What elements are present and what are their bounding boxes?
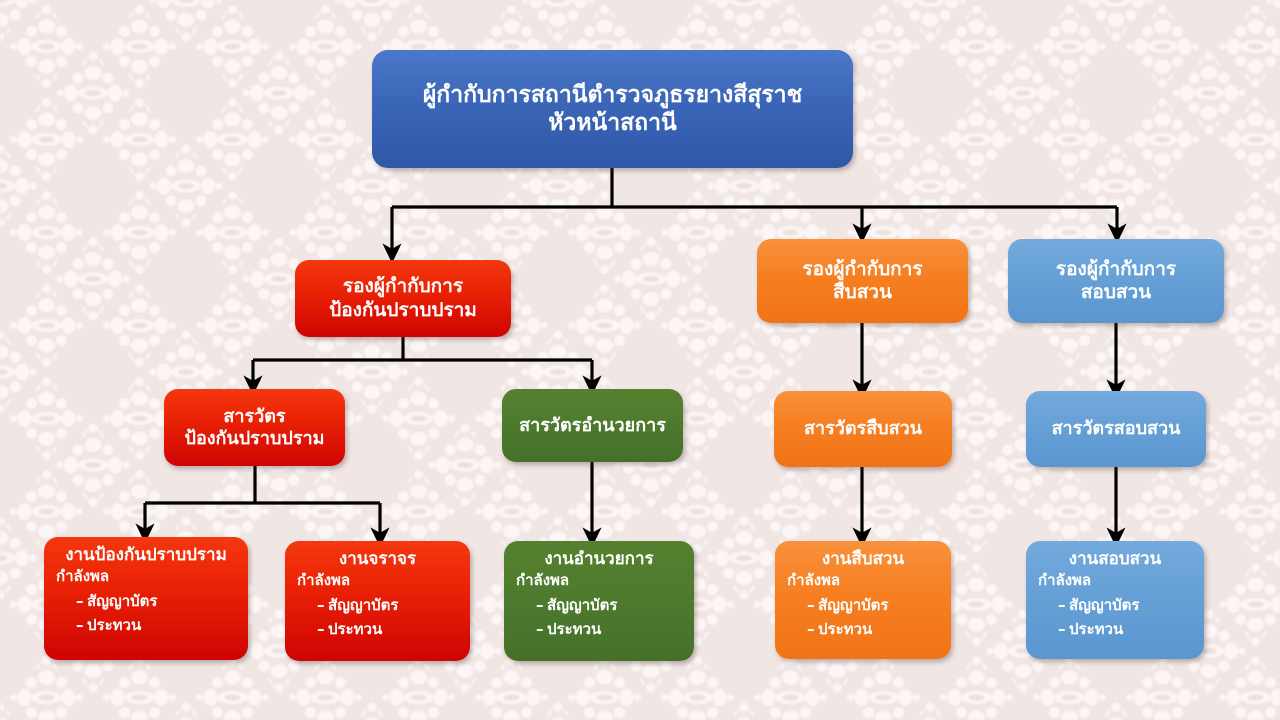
list-item: –ประทวน xyxy=(807,617,941,641)
leaf-work-inquiry-subtitle: กำลังพล xyxy=(1036,571,1194,591)
leaf-work-inquiry-list: –สัญญาบัตร –ประทวน xyxy=(1036,593,1194,642)
bullet-dash: – xyxy=(317,593,328,617)
node-inspector-inquiry[interactable]: สารวัตรสอบสวน xyxy=(1026,391,1206,467)
leaf-work-investigation-subtitle: กำลังพล xyxy=(785,571,941,591)
bullet-dash: – xyxy=(1058,617,1069,641)
node-station-chief-line1: ผู้กำกับการสถานีตำรวจภูธรยางสีสุราช xyxy=(423,81,802,109)
bullet-dash: – xyxy=(317,617,328,641)
list-item-label: ประทวน xyxy=(547,620,601,638)
bullet-dash: – xyxy=(76,589,87,613)
node-inspector-prevention[interactable]: สารวัตร ป้องกันปราบปราม xyxy=(164,389,345,466)
list-item: –ประทวน xyxy=(1058,617,1194,641)
bullet-dash: – xyxy=(1058,593,1069,617)
leaf-work-prevention[interactable]: งานป้องกันปราบปราม กำลังพล –สัญญาบัตร –ป… xyxy=(44,537,248,660)
list-item: –สัญญาบัตร xyxy=(317,593,460,617)
list-item-label: สัญญาบัตร xyxy=(328,596,398,614)
bullet-dash: – xyxy=(536,617,547,641)
list-item-label: ประทวน xyxy=(87,616,141,634)
org-chart-canvas: ผู้กำกับการสถานีตำรวจภูธรยางสีสุราช หัวห… xyxy=(0,0,1280,720)
list-item-label: สัญญาบัตร xyxy=(818,596,888,614)
node-deputy-inquiry[interactable]: รองผู้กำกับการ สอบสวน xyxy=(1008,239,1224,323)
list-item: –สัญญาบัตร xyxy=(536,593,684,617)
list-item: –ประทวน xyxy=(317,617,460,641)
node-inspector-prevention-line2: ป้องกันปราบปราม xyxy=(185,428,325,450)
leaf-work-traffic-subtitle: กำลังพล xyxy=(295,571,460,591)
leaf-work-traffic-title: งานจราจร xyxy=(295,549,460,570)
node-deputy-prevention-line1: รองผู้กำกับการ xyxy=(343,275,463,298)
list-item: –สัญญาบัตร xyxy=(1058,593,1194,617)
leaf-work-prevention-list: –สัญญาบัตร –ประทวน xyxy=(54,589,238,638)
bullet-dash: – xyxy=(536,593,547,617)
list-item: –สัญญาบัตร xyxy=(76,589,238,613)
leaf-work-admin-subtitle: กำลังพล xyxy=(514,571,684,591)
leaf-work-inquiry[interactable]: งานสอบสวน กำลังพล –สัญญาบัตร –ประทวน xyxy=(1026,541,1204,659)
leaf-work-prevention-title: งานป้องกันปราบปราม xyxy=(54,545,238,566)
node-station-chief[interactable]: ผู้กำกับการสถานีตำรวจภูธรยางสีสุราช หัวห… xyxy=(372,50,853,168)
list-item: –สัญญาบัตร xyxy=(807,593,941,617)
leaf-work-prevention-subtitle: กำลังพล xyxy=(54,567,238,587)
node-deputy-investigation-line2: สืบสวน xyxy=(833,281,892,304)
node-inspector-admin[interactable]: สารวัตรอำนวยการ xyxy=(502,389,683,462)
leaf-work-traffic-list: –สัญญาบัตร –ประทวน xyxy=(295,593,460,642)
node-inspector-inquiry-line1: สารวัตรสอบสวน xyxy=(1052,418,1181,440)
node-deputy-prevention-line2: ป้องกันปราบปราม xyxy=(329,299,477,322)
leaf-work-admin-title: งานอำนวยการ xyxy=(514,549,684,570)
node-deputy-prevention[interactable]: รองผู้กำกับการ ป้องกันปราบปราม xyxy=(295,260,511,337)
node-deputy-investigation[interactable]: รองผู้กำกับการ สืบสวน xyxy=(757,239,968,323)
node-inspector-prevention-line1: สารวัตร xyxy=(223,406,285,428)
node-deputy-inquiry-line2: สอบสวน xyxy=(1081,281,1151,304)
list-item-label: ประทวน xyxy=(328,620,382,638)
list-item: –ประทวน xyxy=(536,617,684,641)
node-station-chief-line2: หัวหน้าสถานี xyxy=(548,109,676,137)
list-item-label: ประทวน xyxy=(818,620,872,638)
list-item-label: สัญญาบัตร xyxy=(1069,596,1139,614)
leaf-work-inquiry-title: งานสอบสวน xyxy=(1036,549,1194,570)
leaf-work-admin[interactable]: งานอำนวยการ กำลังพล –สัญญาบัตร –ประทวน xyxy=(504,541,694,661)
node-inspector-investigation[interactable]: สารวัตรสืบสวน xyxy=(774,391,952,467)
node-deputy-inquiry-line1: รองผู้กำกับการ xyxy=(1056,258,1176,281)
leaf-work-traffic[interactable]: งานจราจร กำลังพล –สัญญาบัตร –ประทวน xyxy=(285,541,470,661)
bullet-dash: – xyxy=(76,613,87,637)
list-item-label: สัญญาบัตร xyxy=(87,592,157,610)
leaf-work-investigation-list: –สัญญาบัตร –ประทวน xyxy=(785,593,941,642)
bullet-dash: – xyxy=(807,593,818,617)
list-item-label: ประทวน xyxy=(1069,620,1123,638)
bullet-dash: – xyxy=(807,617,818,641)
list-item-label: สัญญาบัตร xyxy=(547,596,617,614)
node-inspector-investigation-line1: สารวัตรสืบสวน xyxy=(804,418,922,440)
leaf-work-admin-list: –สัญญาบัตร –ประทวน xyxy=(514,593,684,642)
list-item: –ประทวน xyxy=(76,613,238,637)
node-deputy-investigation-line1: รองผู้กำกับการ xyxy=(802,258,922,281)
leaf-work-investigation-title: งานสืบสวน xyxy=(785,549,941,570)
node-inspector-admin-line1: สารวัตรอำนวยการ xyxy=(519,415,666,437)
leaf-work-investigation[interactable]: งานสืบสวน กำลังพล –สัญญาบัตร –ประทวน xyxy=(775,541,951,659)
